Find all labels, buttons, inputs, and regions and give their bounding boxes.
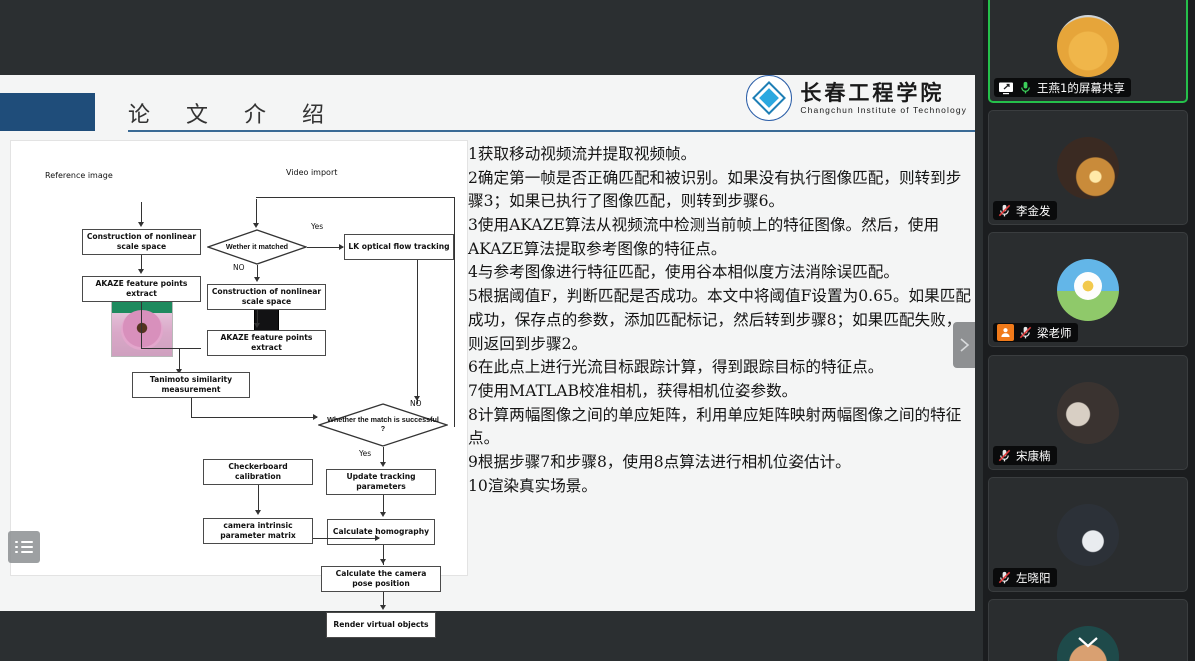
connector bbox=[191, 417, 317, 418]
box-update-tracking-parameters: Update tracking parameters bbox=[326, 469, 436, 495]
box-akaze-reference: AKAZE feature points extract bbox=[82, 276, 201, 302]
slide-header: 论文介绍 长春工程学院 Changchun Institute of Techn… bbox=[0, 75, 975, 131]
host-badge-icon bbox=[997, 324, 1014, 341]
microphone-muted-icon bbox=[1018, 325, 1033, 340]
avatar bbox=[1057, 15, 1119, 77]
participant-video-strip[interactable]: 王燕1的屏幕共享 李金发 bbox=[983, 0, 1195, 661]
header-divider bbox=[128, 130, 975, 132]
connector bbox=[141, 348, 201, 349]
step-line: 10渲染真实场景。 bbox=[468, 475, 973, 499]
step-line: 1获取移动视频流并提取视频帧。 bbox=[468, 143, 973, 167]
university-name-en: Changchun Institute of Technology bbox=[800, 106, 967, 115]
microphone-muted-icon bbox=[997, 203, 1012, 218]
participant-name: 王燕1的屏幕共享 bbox=[1037, 80, 1125, 96]
participant-tile-3[interactable]: 宋康楠 bbox=[988, 355, 1188, 470]
step-line: 7使用MATLAB校准相机，获得相机位姿参数。 bbox=[468, 380, 973, 404]
connector-arrow bbox=[380, 605, 386, 610]
connector bbox=[313, 538, 379, 539]
step-line: 9根据步骤7和步骤8，使用8点算法进行相机位姿估计。 bbox=[468, 451, 973, 475]
participant-tile-2[interactable]: 梁老师 bbox=[988, 232, 1188, 347]
box-akaze-video: AKAZE feature points extract bbox=[207, 330, 326, 356]
connector bbox=[417, 260, 418, 404]
box-render-virtual-objects: Render virtual objects bbox=[326, 612, 436, 638]
participant-tile-0[interactable]: 王燕1的屏幕共享 bbox=[988, 0, 1188, 103]
microphone-muted-icon bbox=[997, 448, 1012, 463]
step-line: 3使用AKAZE算法从视频流中检测当前帧上的特征图像。然后，使用AKAZE算法提… bbox=[468, 214, 973, 261]
participant-namebar: 王燕1的屏幕共享 bbox=[994, 78, 1131, 97]
connector bbox=[307, 247, 343, 248]
step-line: 4与参考图像进行特征匹配，使用谷本相似度方法消除误匹配。 bbox=[468, 261, 973, 285]
participant-name: 梁老师 bbox=[1037, 325, 1072, 341]
microphone-unmuted-icon bbox=[1018, 80, 1033, 95]
box-lk-optical-flow-tracking: LK optical flow tracking bbox=[344, 234, 454, 260]
presentation-slide: 论文介绍 长春工程学院 Changchun Institute of Techn… bbox=[0, 75, 975, 611]
connector bbox=[141, 202, 142, 224]
box-tanimoto-similarity: Tanimoto similarity measurement bbox=[132, 372, 250, 398]
page-title: 论文介绍 bbox=[128, 97, 360, 129]
title-char-3: 介 bbox=[244, 103, 268, 128]
step-line: 8计算两幅图像之间的单应矩阵，利用单应矩阵映射两幅图像之间的特征点。 bbox=[468, 404, 973, 451]
participant-namebar: 宋康楠 bbox=[993, 446, 1057, 465]
connector bbox=[454, 197, 455, 427]
connector-arrow bbox=[254, 277, 260, 282]
step-line: 5根据阈值F，判断匹配是否成功。本文中将阈值F设置为0.65。如果匹配成功，保存… bbox=[468, 285, 973, 356]
connector bbox=[256, 197, 454, 198]
avatar bbox=[1057, 382, 1119, 444]
university-logo-text: 长春工程学院 Changchun Institute of Technology bbox=[800, 82, 967, 115]
university-name-cn: 长春工程学院 bbox=[800, 82, 967, 104]
connector-arrow bbox=[254, 323, 260, 328]
title-char-1: 论 bbox=[128, 103, 152, 128]
connector-arrow bbox=[138, 269, 144, 274]
chevron-down-icon bbox=[1075, 634, 1101, 650]
decision-label: Wether it matched bbox=[220, 243, 294, 252]
participant-namebar: 梁老师 bbox=[993, 323, 1078, 342]
steps-text-block: 1获取移动视频流并提取视频帧。 2确定第一帧是否正确匹配和被识别。如果没有执行图… bbox=[468, 143, 973, 498]
connector-arrow bbox=[380, 462, 386, 467]
box-camera-intrinsic-matrix: camera intrinsic parameter matrix bbox=[203, 518, 313, 544]
connector bbox=[258, 485, 259, 513]
chevron-right-icon bbox=[959, 337, 970, 353]
list-icon-rows bbox=[15, 538, 33, 556]
university-seal-icon bbox=[746, 75, 792, 121]
step-line: 6在此点上进行光流目标跟踪计算，得到跟踪目标的特征点。 bbox=[468, 356, 973, 380]
step-line: 2确定第一帧是否正确匹配和被识别。如果没有执行图像匹配，则转到步骤3；如果已执行… bbox=[468, 167, 973, 214]
connector bbox=[191, 398, 192, 418]
shared-screen-region[interactable]: 论文介绍 长春工程学院 Changchun Institute of Techn… bbox=[0, 0, 975, 661]
participant-name: 李金发 bbox=[1016, 203, 1051, 219]
connector-arrow bbox=[380, 512, 386, 517]
box-checkerboard-calibration: Checkerboard calibration bbox=[203, 459, 313, 485]
header-accent-block bbox=[0, 93, 95, 131]
participant-namebar: 李金发 bbox=[993, 201, 1057, 220]
decision-wether-it-matched: Wether it matched bbox=[207, 229, 307, 265]
label-yes-2: Yes bbox=[359, 449, 371, 458]
avatar bbox=[1057, 504, 1119, 566]
label-no-1: NO bbox=[233, 263, 245, 272]
title-char-4: 绍 bbox=[302, 103, 326, 128]
participant-name: 宋康楠 bbox=[1016, 448, 1051, 464]
label-no-2: NO bbox=[410, 399, 422, 408]
avatar bbox=[1057, 137, 1119, 199]
connector-arrow bbox=[253, 223, 259, 228]
box-construction-video: Construction of nonlinear scale space bbox=[207, 284, 326, 310]
box-calculate-camera-pose: Calculate the camera pose position bbox=[321, 566, 441, 592]
connector-arrow bbox=[380, 559, 386, 564]
box-calculate-homography: Calculate homography bbox=[327, 519, 435, 545]
connector-arrow bbox=[255, 510, 261, 515]
collapse-panel-button[interactable] bbox=[953, 322, 975, 368]
microphone-muted-icon bbox=[997, 570, 1012, 585]
flowchart-panel: Reference image Video import Constructio… bbox=[10, 140, 468, 576]
avatar bbox=[1057, 259, 1119, 321]
zoom-meeting-window: 论文介绍 长春工程学院 Changchun Institute of Techn… bbox=[0, 0, 1195, 661]
list-view-icon[interactable] bbox=[8, 531, 40, 563]
screen-share-icon bbox=[998, 81, 1014, 95]
participant-tile-1[interactable]: 李金发 bbox=[988, 110, 1188, 225]
participant-tile-5[interactable] bbox=[988, 599, 1188, 661]
title-char-2: 文 bbox=[186, 103, 210, 128]
connector-arrow bbox=[375, 535, 380, 541]
connector bbox=[256, 199, 257, 226]
label-video-import: Video import bbox=[286, 168, 337, 177]
label-yes-1: Yes bbox=[311, 222, 323, 231]
participant-namebar: 左晓阳 bbox=[993, 568, 1057, 587]
decision-label: Whether the match is successful ? bbox=[318, 416, 448, 433]
participant-name: 左晓阳 bbox=[1016, 570, 1051, 586]
scroll-down-button[interactable] bbox=[1075, 634, 1101, 655]
participant-tile-4[interactable]: 左晓阳 bbox=[988, 477, 1188, 592]
university-logo: 长春工程学院 Changchun Institute of Technology bbox=[746, 75, 967, 121]
decision-match-successful: Whether the match is successful ? bbox=[318, 403, 448, 447]
box-construction-reference: Construction of nonlinear scale space bbox=[82, 229, 201, 255]
person-icon bbox=[1000, 327, 1011, 338]
label-reference-image: Reference image bbox=[45, 171, 113, 180]
connector bbox=[141, 302, 142, 349]
connector-arrow bbox=[138, 222, 144, 227]
